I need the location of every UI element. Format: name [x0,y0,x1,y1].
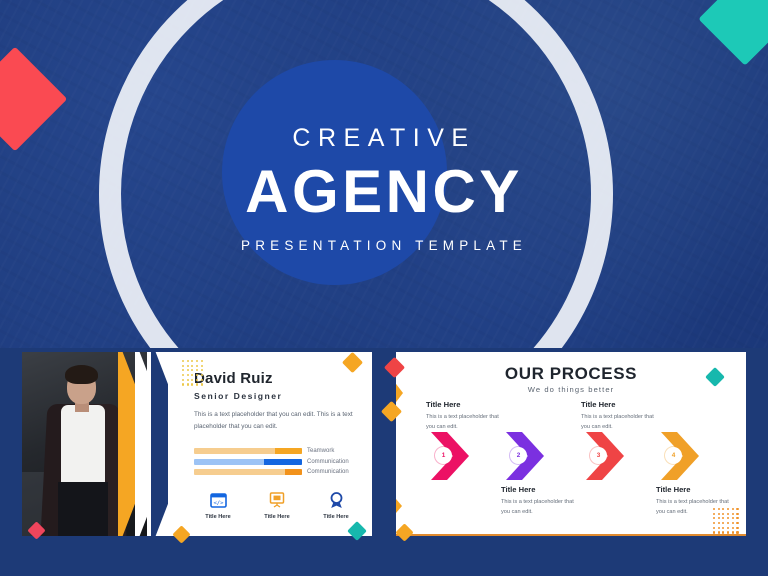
process-step-title: Title Here [426,400,504,409]
dot [182,379,184,381]
process-step-title: Title Here [656,485,734,494]
dot [713,527,715,529]
svg-text:</>: </> [213,500,224,506]
dot [182,369,184,371]
dot-grid-gold [182,360,203,386]
award-ribbon-icon [312,490,360,510]
skill-bar-track [194,459,302,465]
slide-process[interactable]: OUR PROCESS We do things better 1Title H… [396,352,746,536]
dot [191,365,193,367]
dot [713,513,715,515]
profile-icon-caption: Title Here [312,514,360,520]
dot [196,379,198,381]
dot [718,522,720,524]
dot [187,379,189,381]
dot [713,517,715,519]
skill-bar-fill [285,469,302,475]
dot [727,513,729,515]
process-step-title: Title Here [501,485,579,494]
skill-bar-fill [275,448,302,454]
dot [736,527,738,529]
dot [732,513,734,515]
profile-description: This is a text placeholder that you can … [194,409,360,433]
dot [732,531,734,533]
hero-eyebrow: CREATIVE [0,126,768,151]
process-step: Title HereThis is a text placeholder tha… [581,400,659,433]
dot [732,522,734,524]
dot [732,517,734,519]
process-step-arrow: 2 [506,432,550,480]
profile-icon-item[interactable]: Title Here [312,490,360,520]
profile-icon-item[interactable]: Title Here [253,490,301,520]
process-subtitle: We do things better [396,385,746,394]
dot [191,360,193,362]
dot [196,360,198,362]
dot [713,508,715,510]
profile-icon-row: </>Title HereTitle HereTitle Here [194,490,360,520]
skill-bar-row: Teamwork [194,448,360,454]
hero-subtitle: PRESENTATION TEMPLATE [0,238,768,253]
presentation-preview: CREATIVE AGENCY PRESENTATION TEMPLATE Da… [0,0,768,576]
code-window-icon: </> [194,490,242,510]
dot [182,360,184,362]
dot [182,383,184,385]
dot [201,360,203,362]
process-step: Title HereThis is a text placeholder tha… [426,400,504,433]
dot [196,369,198,371]
dot [187,374,189,376]
dot [718,513,720,515]
skill-bar-label: Teamwork [307,448,334,454]
profile-role: Senior Designer [194,391,360,401]
dot [187,365,189,367]
skill-bars: TeamworkCommunicationCommunication [194,448,360,480]
dot [732,508,734,510]
dot [736,517,738,519]
dot [187,383,189,385]
profile-text-block: David Ruiz Senior Designer This is a tex… [194,370,360,433]
decorative-orange-wedge-top [396,376,403,410]
slide-bottom-accent-line [396,534,746,537]
dot [196,365,198,367]
dot [191,369,193,371]
dot [201,383,203,385]
dot [736,508,738,510]
dot [722,531,724,533]
dot [727,522,729,524]
dot [201,374,203,376]
skill-bar-row: Communication [194,459,360,465]
process-step-description: This is a text placeholder that you can … [581,412,659,433]
process-step: Title HereThis is a text placeholder tha… [501,485,579,518]
dot [727,531,729,533]
dot [713,522,715,524]
dot [722,508,724,510]
hero-section: CREATIVE AGENCY PRESENTATION TEMPLATE [0,0,768,348]
dot [727,517,729,519]
dot [722,517,724,519]
skill-bar-label: Communication [307,469,349,475]
process-step-title: Title Here [581,400,659,409]
dot-grid-orange [713,508,739,534]
dot [196,374,198,376]
process-step-description: This is a text placeholder that you can … [426,412,504,433]
skill-bar-row: Communication [194,469,360,475]
process-step-arrow: 3 [586,432,630,480]
skill-bar-label: Communication [307,459,349,465]
hero-title-group: CREATIVE AGENCY PRESENTATION TEMPLATE [0,126,768,253]
decorative-orange-wedge-bottom [396,492,402,520]
dot [722,522,724,524]
dot [196,383,198,385]
dot [722,513,724,515]
dot [201,365,203,367]
process-step-number: 4 [665,447,682,464]
dot [182,374,184,376]
dot [201,369,203,371]
dot [732,527,734,529]
dot [718,517,720,519]
skill-bar-track [194,448,302,454]
dot [722,527,724,529]
dot [736,531,738,533]
dot [187,369,189,371]
dot [727,527,729,529]
process-title: OUR PROCESS [396,364,746,384]
dot [718,508,720,510]
presentation-board-icon [253,490,301,510]
process-step-arrow: 4 [661,432,705,480]
dot [182,365,184,367]
dot [201,379,203,381]
profile-icon-caption: Title Here [194,514,242,520]
dot [713,531,715,533]
process-step-description: This is a text placeholder that you can … [501,497,579,518]
process-step-number: 2 [510,447,527,464]
dot [727,508,729,510]
skill-bar-track [194,469,302,475]
profile-name: David Ruiz [194,370,360,387]
process-step-arrow: 1 [431,432,475,480]
dot [191,374,193,376]
dot [187,360,189,362]
dot [718,531,720,533]
hero-main-title: AGENCY [0,160,768,225]
dot [736,522,738,524]
process-step-number: 1 [435,447,452,464]
dot [191,379,193,381]
dot [736,513,738,515]
process-step-number: 3 [590,447,607,464]
profile-icon-item[interactable]: </>Title Here [194,490,242,520]
profile-icon-caption: Title Here [253,514,301,520]
dot [191,383,193,385]
dot [718,527,720,529]
skill-bar-fill [264,459,302,465]
